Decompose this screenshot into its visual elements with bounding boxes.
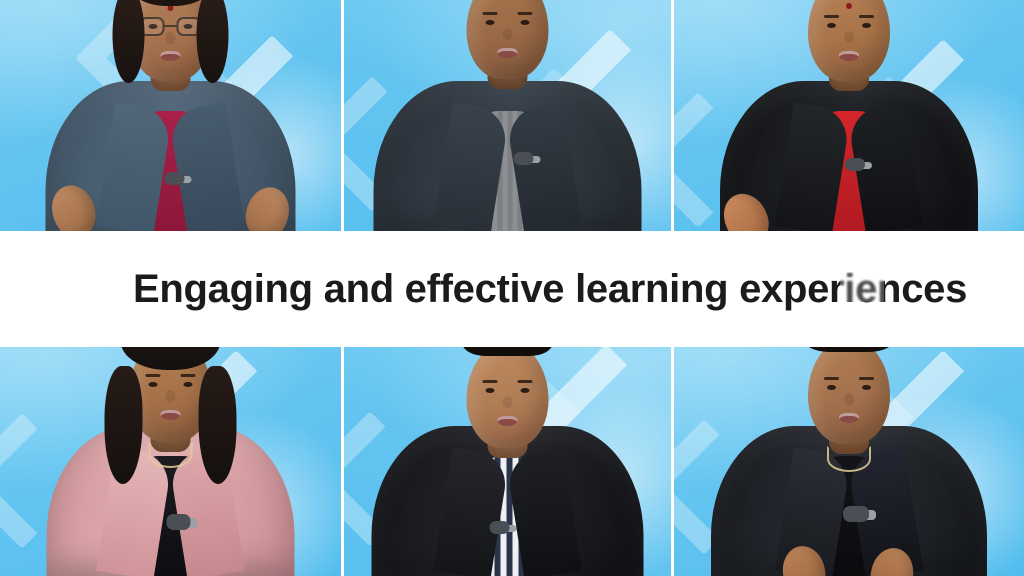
eye (149, 382, 158, 387)
video-panel-bottom-right[interactable] (674, 347, 1024, 576)
video-panel-top-center[interactable] (344, 0, 671, 231)
mouth (498, 416, 518, 426)
eye (862, 385, 871, 390)
glasses-icon (140, 17, 202, 37)
eyebrow (859, 15, 874, 18)
eye (827, 385, 836, 390)
eye (862, 23, 871, 28)
mouth (839, 51, 859, 61)
hair (463, 347, 553, 356)
nose (503, 396, 513, 408)
nose (844, 393, 854, 405)
video-grid-slide: Engaging and effective learning experien… (0, 0, 1024, 576)
mouth (161, 51, 181, 61)
eyebrow (859, 377, 874, 380)
bindi (846, 3, 852, 9)
mouth (839, 413, 859, 423)
presenter-figure (344, 347, 671, 576)
nose (503, 28, 513, 40)
video-panel-bottom-left[interactable] (0, 347, 341, 576)
eyebrow (518, 380, 533, 383)
hair-side (105, 366, 143, 484)
lapel-mic-icon (843, 506, 869, 522)
nose (166, 390, 176, 402)
face (467, 0, 549, 79)
eyebrow (483, 380, 498, 383)
hair (803, 347, 895, 352)
eye (486, 20, 495, 25)
presenter-figure (674, 347, 1024, 576)
eyebrow (518, 12, 533, 15)
video-panel-top-right[interactable] (674, 0, 1024, 231)
lapel-mic-icon (167, 514, 191, 530)
eyebrow (181, 374, 196, 377)
banner-headline: Engaging and effective learning experien… (133, 267, 967, 312)
face (808, 0, 890, 81)
eye (521, 20, 530, 25)
hair-side (199, 366, 237, 484)
eyebrow (824, 377, 839, 380)
hair-side (197, 0, 229, 83)
eyebrow (824, 15, 839, 18)
lapel-mic-icon (514, 152, 534, 165)
hair-side (113, 0, 145, 83)
eye (486, 388, 495, 393)
caption-banner: Engaging and effective learning experien… (0, 231, 1024, 347)
eye (521, 388, 530, 393)
presenter-figure (0, 0, 341, 231)
eye (184, 382, 193, 387)
mouth (161, 410, 181, 420)
eyebrow (146, 374, 161, 377)
mouth (498, 48, 518, 58)
necklace (827, 446, 871, 472)
presenter-figure (674, 0, 1024, 231)
lapel-mic-icon (490, 521, 510, 534)
face (467, 347, 549, 448)
lapel-mic-icon (845, 158, 865, 171)
nose (844, 31, 854, 43)
video-panel-top-left[interactable] (0, 0, 341, 231)
presenter-figure (0, 347, 341, 576)
lapel-mic-icon (165, 172, 185, 185)
necklace (149, 442, 193, 468)
eyebrow (483, 12, 498, 15)
face (808, 347, 890, 444)
video-panel-bottom-center[interactable] (344, 347, 671, 576)
presenter-figure (344, 0, 671, 231)
eye (827, 23, 836, 28)
